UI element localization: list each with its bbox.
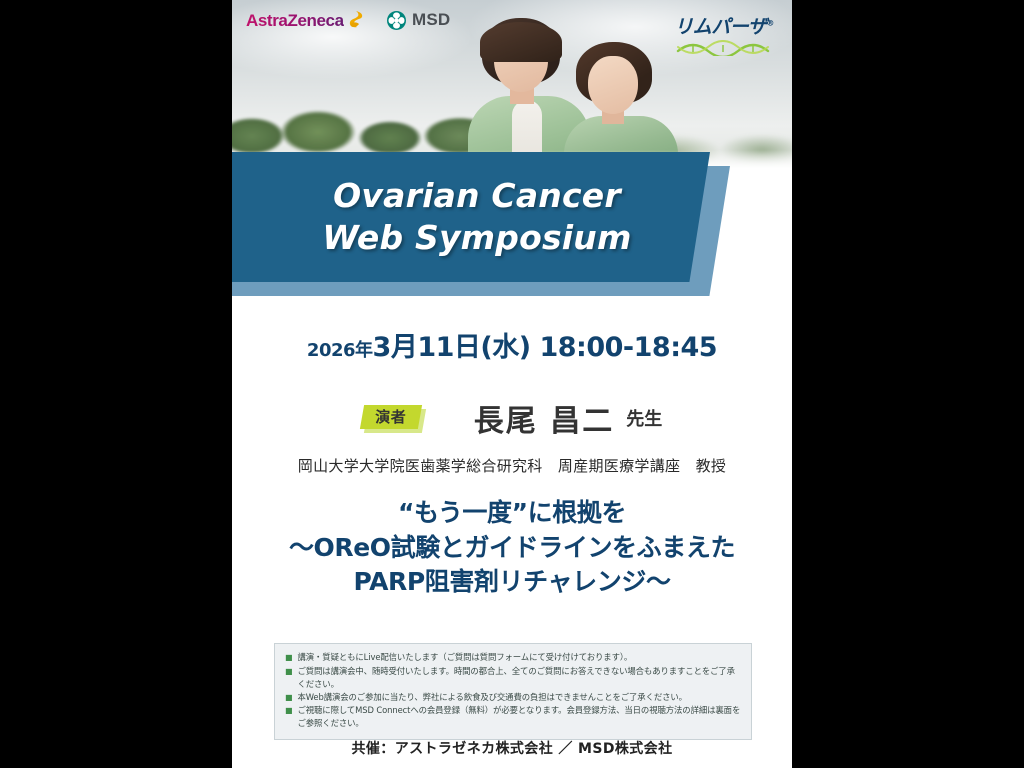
bullet-icon: ■ xyxy=(285,665,292,691)
lecture-title-line2: ～OReO試験とガイドラインをふまえた xyxy=(232,531,792,566)
note-item: ■ ご質問は講演会中、随時受付いたします。時間の都合上、全てのご質問にお答えでき… xyxy=(285,665,741,691)
banner-title: Ovarian Cancer Web Symposium xyxy=(232,152,722,282)
title-banner: Ovarian Cancer Web Symposium xyxy=(232,152,792,302)
bullet-icon: ■ xyxy=(285,691,292,705)
lecture-title: “もう一度”に根拠を ～OReO試験とガイドラインをふまえた PARP阻害剤リチ… xyxy=(232,496,792,600)
speaker-affiliation: 岡山大学大学院医歯薬学総合研究科 周産期医療学講座 教授 xyxy=(232,455,792,476)
note-text: 講演・質疑ともにLive配信いたします（ご質問は質問フォームにて受け付けておりま… xyxy=(297,651,632,665)
event-datetime: 3月11日(水) 18:00-18:45 xyxy=(373,332,718,363)
bullet-icon: ■ xyxy=(285,704,292,730)
flyer-page: AstraZeneca MSD リムパーザ® xyxy=(232,0,792,768)
banner-title-line2: Web Symposium xyxy=(322,217,631,259)
speaker-badge-label: 演者 xyxy=(362,405,420,429)
screenshot-stage: AstraZeneca MSD リムパーザ® xyxy=(0,0,1024,768)
astrazeneca-logo-text: AstraZeneca xyxy=(246,11,344,31)
speaker-name: 長尾 昌二 xyxy=(474,396,614,440)
lynparza-trademark: ® xyxy=(766,19,774,28)
note-text: ご視聴に際してMSD Connectへの会員登録（無料）が必要となります。会員登… xyxy=(297,704,741,730)
event-year: 2026年 xyxy=(307,340,373,361)
cohost-footer: 共催：アストラゼネカ株式会社 ／ MSD株式会社 xyxy=(232,738,792,758)
banner-title-line1: Ovarian Cancer xyxy=(333,175,621,217)
notes-box: ■ 講演・質疑ともにLive配信いたします（ご質問は質問フォームにて受け付けてお… xyxy=(274,643,752,740)
speaker-row: 演者 長尾 昌二 先生 xyxy=(232,396,792,440)
note-text: 本Web講演会のご参加に当たり、弊社による飲食及び交通費の負担はできませんことを… xyxy=(297,691,687,705)
note-item: ■ ご視聴に際してMSD Connectへの会員登録（無料）が必要となります。会… xyxy=(285,704,741,730)
lynparza-logo-text: リムパーザ® xyxy=(672,12,776,39)
msd-propeller-icon xyxy=(387,11,406,30)
speaker-honorific: 先生 xyxy=(626,405,662,431)
astrazeneca-ribbon-icon xyxy=(347,10,365,31)
msd-logo: MSD xyxy=(387,10,450,30)
lecture-title-line3: PARP阻害剤リチャレンジ～ xyxy=(232,565,792,600)
event-date: 2026年3月11日(水) 18:00-18:45 xyxy=(232,325,792,364)
bullet-icon: ■ xyxy=(285,651,292,665)
note-text: ご質問は講演会中、随時受付いたします。時間の都合上、全てのご質問にお答えできない… xyxy=(297,665,741,691)
msd-logo-text: MSD xyxy=(412,10,450,30)
speaker-badge: 演者 xyxy=(362,405,422,432)
hero-photo: AstraZeneca MSD リムパーザ® xyxy=(232,0,792,168)
lynparza-logo: リムパーザ® xyxy=(672,12,776,56)
note-item: ■ 本Web講演会のご参加に当たり、弊社による飲食及び交通費の負担はできませんこ… xyxy=(285,691,741,705)
astrazeneca-logo: AstraZeneca xyxy=(246,10,365,31)
lecture-title-line1: “もう一度”に根拠を xyxy=(232,496,792,531)
dna-helix-icon xyxy=(676,40,772,56)
note-item: ■ 講演・質疑ともにLive配信いたします（ご質問は質問フォームにて受け付けてお… xyxy=(285,651,741,665)
